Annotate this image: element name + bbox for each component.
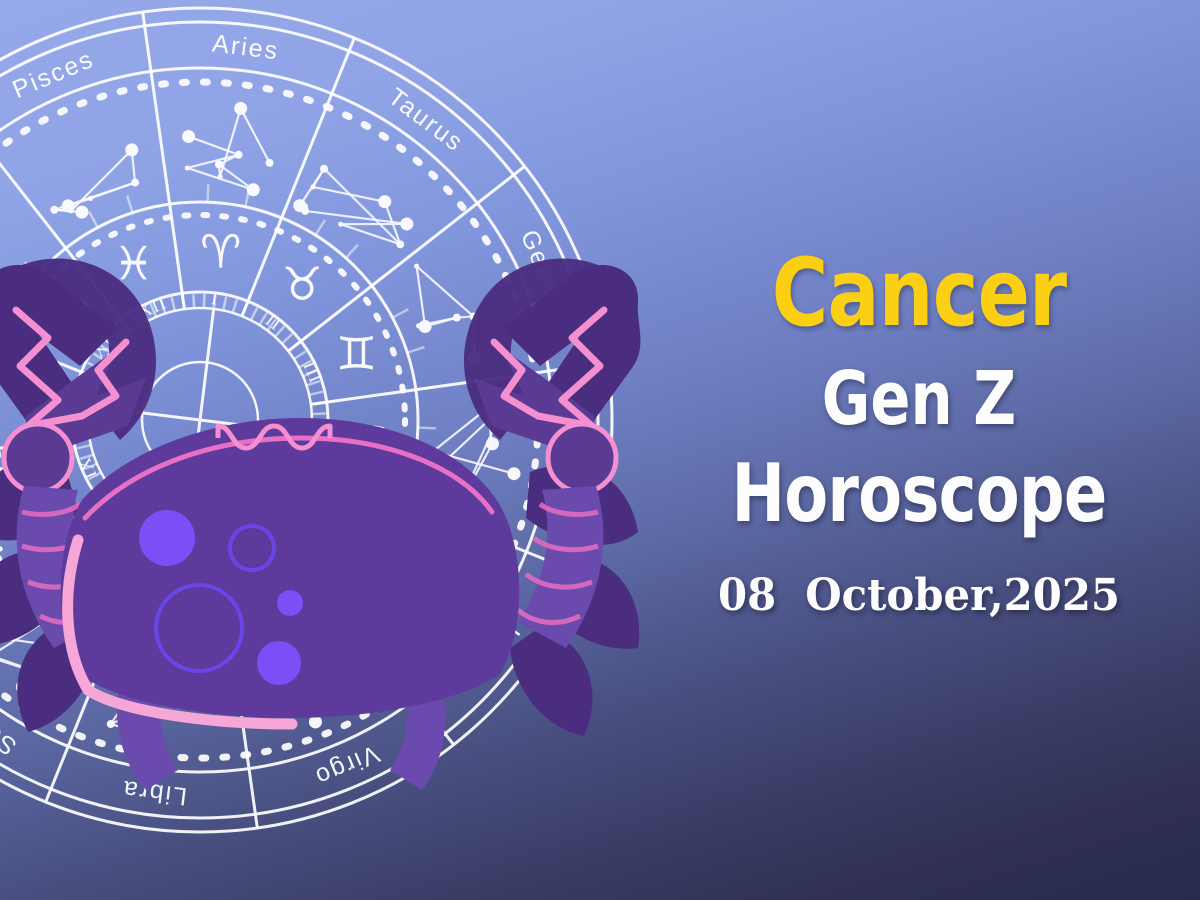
constellation-star	[247, 183, 260, 196]
constellation-star	[400, 217, 413, 230]
constellation-star	[50, 206, 58, 214]
constellation-star	[182, 130, 195, 143]
constellation-star	[303, 204, 308, 209]
constellation-star	[234, 102, 247, 115]
wheel-tick-minor	[167, 186, 170, 204]
constellation-star	[396, 240, 404, 248]
wheel-tick-minor	[282, 201, 289, 218]
headline-block: Cancer Gen Z Horoscope 08 October,2025	[684, 248, 1154, 618]
constellation-star	[217, 174, 222, 179]
constellation-line	[241, 108, 270, 162]
crab-shell	[61, 418, 520, 724]
shell-spot-filled-2	[277, 590, 303, 616]
horoscope-graphic: PiscesAriesTaurusGeminiCancerLeoVirgoLib…	[0, 0, 1200, 900]
date-label: 08 October,2025	[696, 574, 1143, 618]
shell-spot-filled-3	[257, 641, 301, 685]
wheel-tick-minor	[55, 234, 66, 248]
constellation-star	[88, 196, 93, 201]
wheel-sign-label: Aries	[211, 29, 281, 65]
wheel-tick-minor	[89, 212, 97, 228]
subtitle-gen-z: Gen Z	[731, 362, 1107, 436]
shell-spot-filled-1	[139, 510, 195, 566]
constellation-star	[185, 165, 190, 170]
page-title-horoscope: Horoscope	[731, 454, 1107, 534]
wheel-tick-minor	[208, 184, 209, 202]
wheel-tick-minor	[316, 220, 326, 235]
constellation-star	[235, 151, 243, 159]
wheel-tick-minor	[127, 196, 133, 213]
wheel-sign-label: Pisces	[8, 45, 98, 104]
left-claw-joint	[4, 424, 72, 492]
constellation-star	[310, 184, 315, 189]
constellation-star	[338, 222, 343, 227]
constellation-star	[215, 160, 223, 168]
constellation-star	[320, 165, 328, 173]
constellation-star	[75, 206, 88, 219]
constellation-star	[266, 159, 274, 167]
constellation-star	[378, 195, 391, 208]
constellation-line	[187, 155, 238, 168]
zodiac-sign-title: Cancer	[726, 248, 1111, 340]
constellation-line	[220, 108, 241, 176]
constellation-star	[62, 199, 75, 212]
constellation-star	[131, 179, 139, 187]
right-claw-joint	[548, 424, 616, 492]
cancer-crab-illustration	[0, 250, 670, 810]
constellation-star	[125, 143, 138, 156]
